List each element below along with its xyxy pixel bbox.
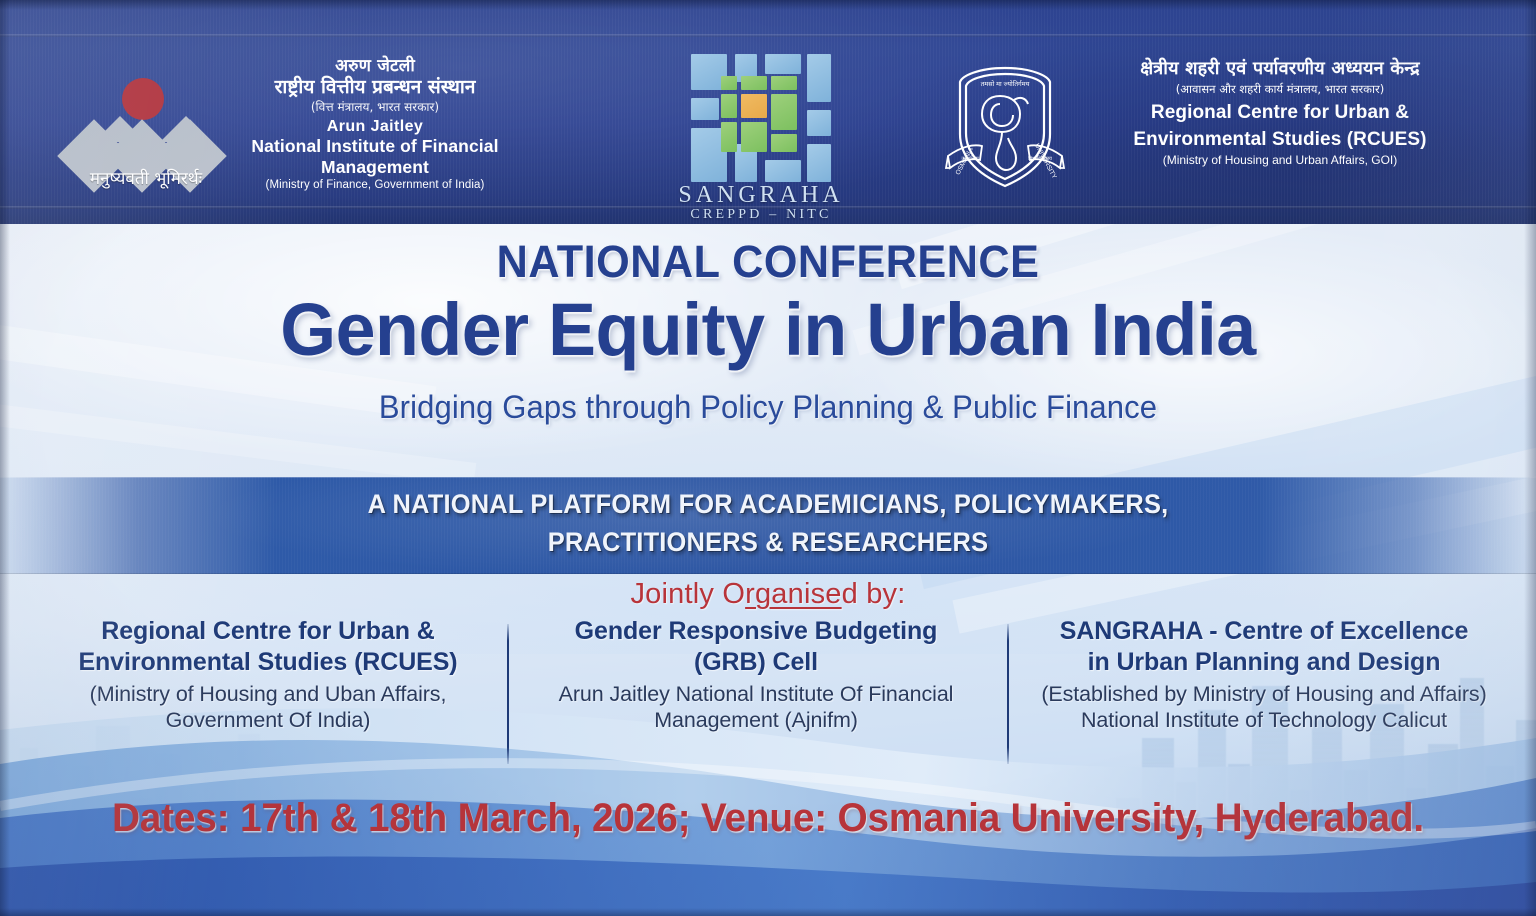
logo-row: मनुष्यवती भूमिरर्थः अरुण जेटली राष्ट्रीय… bbox=[0, 0, 1536, 916]
sangraha-subname: CREPPD – NITC bbox=[651, 207, 871, 223]
jointly-underlined: rganise bbox=[745, 578, 842, 610]
organiser-name-line-1: Gender Responsive Budgeting bbox=[516, 616, 996, 647]
organiser-name-line-2: in Urban Planning and Design bbox=[1016, 647, 1512, 678]
organiser-sub-line-1: (Ministry of Housing and Uban Affairs, bbox=[34, 682, 502, 708]
nifm-hindi-line-2: राष्ट्रीय वित्तीय प्रबन्धन संस्थान bbox=[210, 76, 540, 99]
organiser-divider bbox=[507, 624, 509, 764]
audience-line-2: PRACTITIONERS & RESEARCHERS bbox=[31, 524, 1506, 562]
conference-kicker: NATIONAL CONFERENCE bbox=[31, 236, 1506, 288]
sangraha-wordmark: SANGRAHA CREPPD – NITC bbox=[651, 182, 871, 223]
rcues-title-block: क्षेत्रीय शहरी एवं पर्यावरणीय अध्ययन केन… bbox=[1080, 58, 1480, 167]
jointly-suffix: d by: bbox=[842, 578, 906, 610]
svg-text:तमसो मा ज्योतिर्गमय: तमसो मा ज्योतिर्गमय bbox=[981, 80, 1030, 88]
organiser-sub-line-1: Arun Jaitley National Institute Of Finan… bbox=[516, 682, 996, 708]
organisers-row: Regional Centre for Urban & Environmenta… bbox=[0, 616, 1536, 761]
organiser-name-line-2: Environmental Studies (RCUES) bbox=[34, 647, 502, 678]
sangraha-name: SANGRAHA bbox=[651, 182, 871, 209]
title-block: NATIONAL CONFERENCE Gender Equity in Urb… bbox=[0, 236, 1536, 426]
organiser-column: Regional Centre for Urban & Environmenta… bbox=[34, 616, 502, 734]
rcues-english-line-2: Environmental Studies (RCUES) bbox=[1080, 128, 1480, 151]
nifm-title-block: अरुण जेटली राष्ट्रीय वित्तीय प्रबन्धन सं… bbox=[210, 56, 540, 191]
conference-banner: मनुष्यवती भूमिरर्थः अरुण जेटली राष्ट्रीय… bbox=[0, 0, 1536, 916]
rcues-english-line-1: Regional Centre for Urban & bbox=[1080, 101, 1480, 124]
nifm-hindi-line-1: अरुण जेटली bbox=[210, 56, 540, 76]
nifm-english-line-3: (Ministry of Finance, Government of Indi… bbox=[210, 179, 540, 191]
rcues-english-line-3: (Ministry of Housing and Urban Affairs, … bbox=[1080, 153, 1480, 167]
organiser-sub-line-2: National Institute of Technology Calicut bbox=[1016, 708, 1512, 734]
organiser-sub-line-2: Management (Ajnifm) bbox=[516, 708, 996, 734]
organiser-name-line-1: SANGRAHA - Centre of Excellence bbox=[1016, 616, 1512, 647]
jointly-organised-label: Jointly Organised by: bbox=[0, 578, 1536, 611]
osmania-university-crest-icon: तमसो मा ज्योतिर्गमय OSMANIA UNIVERSITY उ… bbox=[940, 60, 1070, 195]
organiser-divider bbox=[1007, 624, 1009, 764]
conference-subtitle: Bridging Gaps through Policy Planning & … bbox=[23, 389, 1513, 426]
audience-strip: A NATIONAL PLATFORM FOR ACADEMICIANS, PO… bbox=[0, 477, 1536, 574]
nifm-english-line-1: Arun Jaitley bbox=[210, 118, 540, 136]
organiser-sub-line-2: Government Of India) bbox=[34, 708, 502, 734]
rcues-hindi-line-2: (आवासन और शहरी कार्य मंत्रालय, भारत सरका… bbox=[1080, 81, 1480, 97]
nifm-hindi-line-3: (वित्त मंत्रालय, भारत सरकार) bbox=[210, 99, 540, 116]
nifm-english-line-2: National Institute of Financial Manageme… bbox=[210, 136, 540, 178]
sangraha-grid-logo-icon bbox=[691, 54, 831, 182]
nifm-motto: मनुष्यवती भूमिरर्थः bbox=[76, 166, 216, 189]
dates-and-venue: Dates: 17th & 18th March, 2026; Venue: O… bbox=[23, 796, 1513, 841]
organiser-name-line-2: (GRB) Cell bbox=[516, 647, 996, 678]
rcues-hindi-line-1: क्षेत्रीय शहरी एवं पर्यावरणीय अध्ययन केन… bbox=[1080, 58, 1480, 80]
organiser-column: SANGRAHA - Centre of Excellence in Urban… bbox=[1016, 616, 1512, 734]
audience-line-1: A NATIONAL PLATFORM FOR ACADEMICIANS, PO… bbox=[31, 486, 1506, 524]
organiser-column: Gender Responsive Budgeting (GRB) Cell A… bbox=[516, 616, 996, 734]
jointly-prefix: Jointly O bbox=[630, 578, 745, 610]
conference-title: Gender Equity in Urban India bbox=[23, 292, 1513, 367]
organiser-name-line-1: Regional Centre for Urban & bbox=[34, 616, 502, 647]
svg-text:उस्मानिया: उस्मानिया bbox=[961, 155, 979, 162]
organiser-sub-line-1: (Established by Ministry of Housing and … bbox=[1016, 682, 1512, 708]
svg-text:विश्वविद्यालय: विश्वविद्यालय bbox=[1028, 155, 1052, 162]
nifm-red-circle bbox=[122, 78, 164, 120]
